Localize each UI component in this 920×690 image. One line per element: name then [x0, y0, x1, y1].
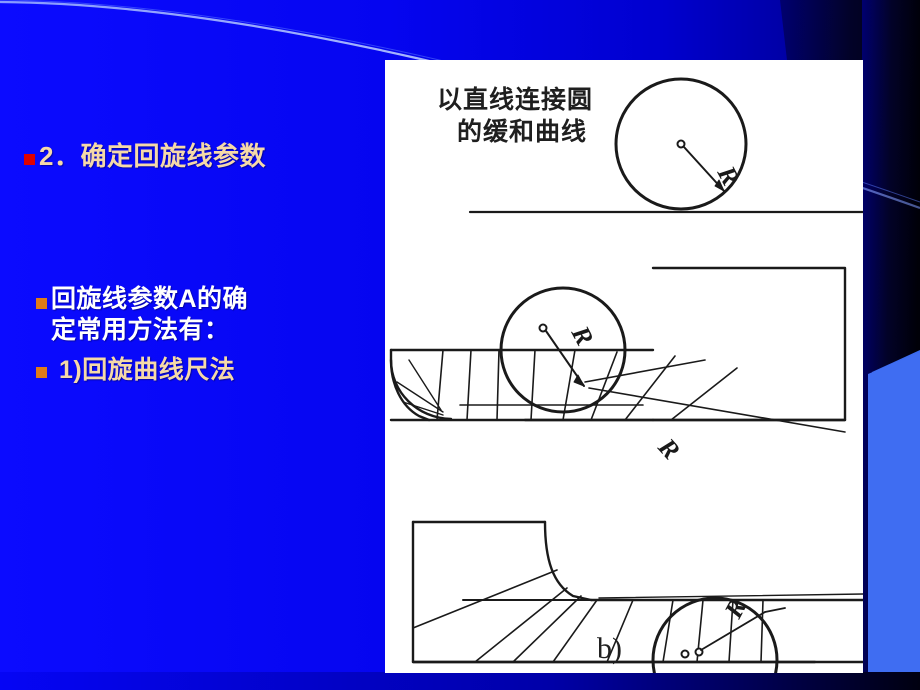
bottom-gauge-line: [553, 600, 597, 662]
radius-label-middle-circle: R: [565, 320, 599, 350]
middle-ray-line: [585, 360, 705, 382]
spiral-curve-ruler-diagram: R R R R 以直线连接圆 的缓和曲线 b): [385, 60, 863, 673]
bottom-circle-centre-dot-1: [682, 651, 689, 658]
figure-sub-caption: b): [597, 632, 622, 665]
bottom-template-curve: [545, 522, 591, 600]
bullet-item-2-line-1: 回旋线参数A的确: [51, 285, 248, 313]
bullet-item-2-line-2: 定常用方法有：: [51, 316, 230, 344]
red-square-bullet-icon: [24, 154, 35, 165]
radius-label-middle-ray: R: [652, 432, 686, 465]
bottom-radius-line-2: [765, 608, 785, 612]
middle-gauge-line: [497, 350, 499, 420]
bullet-item-1[interactable]: 2．确定回旋线参数: [24, 140, 266, 173]
bottom-gauge-line: [761, 600, 763, 662]
annotation-line-1: 以直线连接圆: [437, 85, 593, 114]
bullet-item-3-label: 1)回旋曲线尺法: [51, 355, 235, 386]
bullet-item-2[interactable]: 回旋线参数A的确 定常用方法有：: [36, 284, 366, 347]
bullet-text-column: 2．确定回旋线参数 回旋线参数A的确 定常用方法有： 1)回旋曲线尺法: [0, 0, 380, 690]
orange-square-bullet-icon: [36, 298, 47, 309]
middle-gauge-line: [467, 350, 471, 420]
background-light-triangle-2: [868, 352, 920, 690]
bullet-item-1-label: 2．确定回旋线参数: [39, 140, 266, 173]
bullet-item-3[interactable]: 1)回旋曲线尺法: [36, 355, 235, 386]
middle-fan-line: [409, 360, 441, 410]
bottom-gauge-line: [663, 600, 673, 662]
middle-gauge-line: [531, 350, 535, 420]
middle-block-outline: [653, 268, 845, 420]
middle-gauge-line: [625, 356, 675, 420]
middle-radius-arrowhead: [574, 375, 584, 386]
middle-ray-line-2: [589, 388, 845, 432]
middle-gauge-line: [563, 350, 575, 420]
annotation-line-2: 的缓和曲线: [457, 117, 587, 146]
bottom-gauge-line: [513, 596, 581, 662]
figure-panel: R R R R 以直线连接圆 的缓和曲线 b): [385, 60, 863, 673]
orange-square-bullet-icon: [36, 367, 47, 378]
bullet-item-2-label: 回旋线参数A的确 定常用方法有：: [51, 284, 341, 347]
radius-label-bottom: R: [718, 594, 752, 624]
